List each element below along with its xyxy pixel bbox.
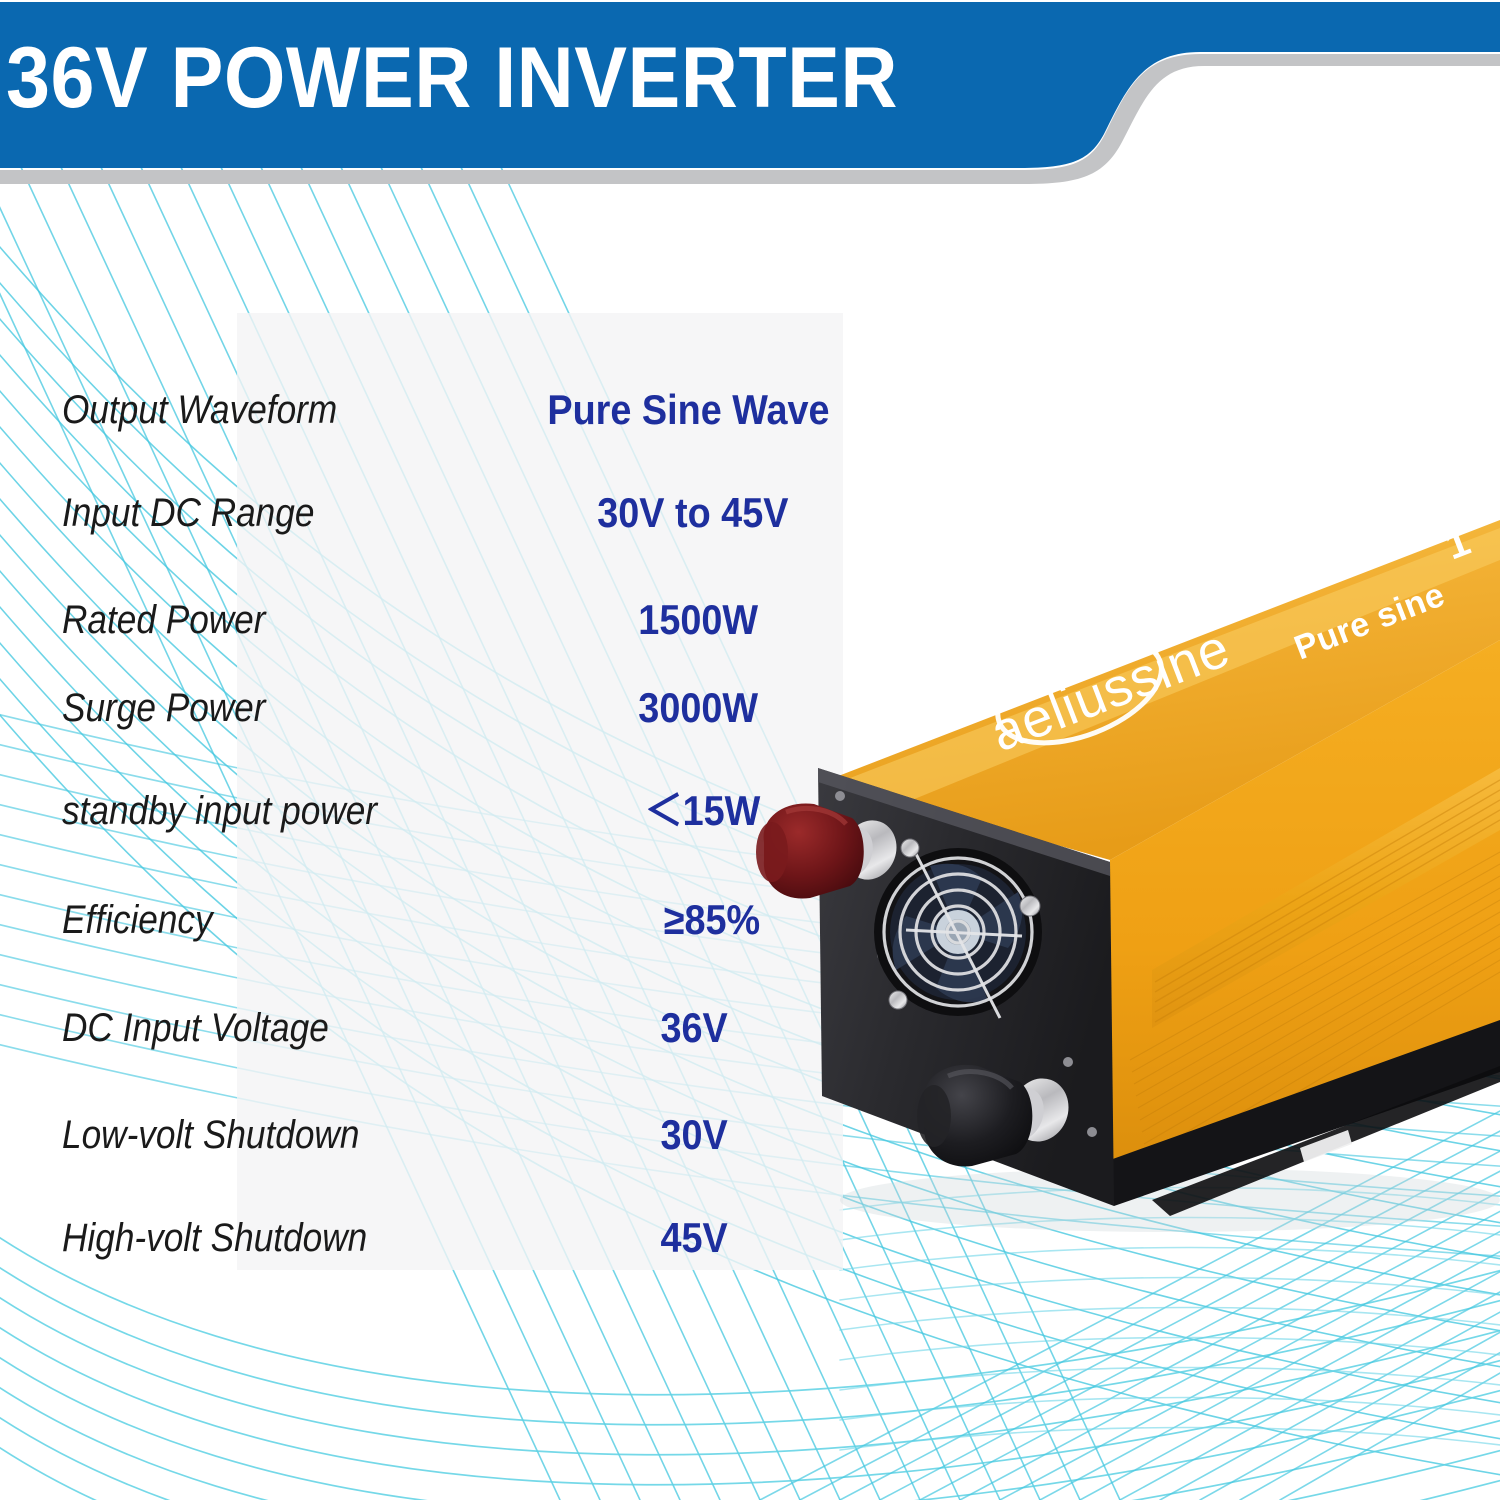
spec-value: 30V — [661, 1111, 728, 1159]
spec-row: High-volt Shutdown 45V — [0, 1203, 900, 1273]
spec-value: 1500W — [638, 596, 758, 644]
infographic-canvas: aeliussine Pure sine 1 — [0, 0, 1500, 1500]
spec-row: DC Input Voltage 36V — [0, 993, 900, 1063]
spec-row: Input DC Range 30V to 45V — [0, 478, 900, 548]
spec-row: Output Waveform Pure Sine Wave — [0, 375, 900, 445]
spec-row: Efficiency ≥85% — [0, 885, 900, 955]
spec-row: Surge Power 3000W — [0, 673, 900, 743]
spec-label: High-volt Shutdown — [62, 1215, 367, 1261]
spec-value: 36V — [661, 1004, 728, 1052]
spec-value: 3000W — [638, 684, 758, 732]
spec-row: Low-volt Shutdown 30V — [0, 1100, 900, 1170]
spec-label: Rated Power — [62, 597, 265, 643]
spec-value: 30V to 45V — [597, 489, 788, 537]
spec-label: Surge Power — [62, 685, 265, 731]
spec-value: 45V — [661, 1214, 728, 1262]
spec-value: Pure Sine Wave — [548, 386, 830, 434]
spec-label: Efficiency — [62, 897, 213, 943]
spec-label: standby input power — [62, 788, 377, 834]
spec-label: Input DC Range — [62, 490, 314, 536]
spec-row: standby input power ＜15W — [0, 776, 900, 846]
spec-value: ＜15W — [644, 787, 760, 835]
spec-value: ≥85% — [664, 896, 760, 944]
spec-row: Rated Power 1500W — [0, 585, 900, 655]
spec-label: Output Waveform — [62, 387, 337, 433]
specification-list: Output Waveform Pure Sine Wave Input DC … — [0, 313, 900, 1273]
spec-label: DC Input Voltage — [62, 1005, 329, 1051]
spec-label: Low-volt Shutdown — [62, 1112, 359, 1158]
page-title: 36V POWER INVERTER — [6, 34, 898, 122]
